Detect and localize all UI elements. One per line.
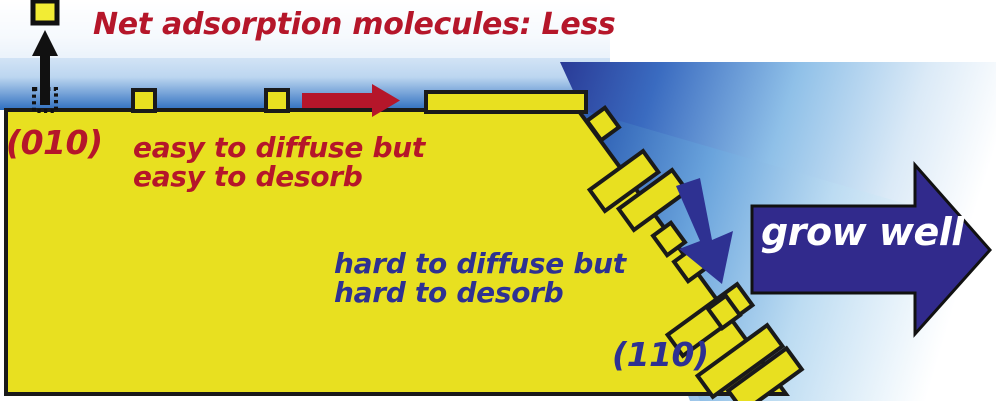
crystal-growth-schematic: [0, 0, 996, 401]
diagram-canvas: Net adsorption molecules: Less (010) eas…: [0, 0, 996, 401]
facet-label-010: (010): [6, 126, 103, 160]
facet-label-110: (110): [612, 338, 709, 372]
red-annotation-block: easy to diffuse but easy to desorb: [133, 133, 425, 191]
red-annotation-line-1: easy to diffuse but: [133, 133, 425, 162]
adsorbed-molecule-010: [266, 90, 288, 111]
blue-annotation-line-2: hard to desorb: [334, 278, 626, 307]
desorbed-molecule: [33, 1, 57, 23]
adsorbed-molecule-010: [133, 90, 155, 111]
blue-annotation-block: hard to diffuse but hard to desorb: [334, 249, 626, 307]
terrace-step-010: [426, 92, 586, 112]
page-title: Net adsorption molecules: Less: [93, 9, 615, 40]
blue-annotation-line-1: hard to diffuse but: [334, 249, 626, 278]
red-annotation-line-2: easy to desorb: [133, 162, 425, 191]
grow-well-label: grow well: [761, 213, 964, 253]
